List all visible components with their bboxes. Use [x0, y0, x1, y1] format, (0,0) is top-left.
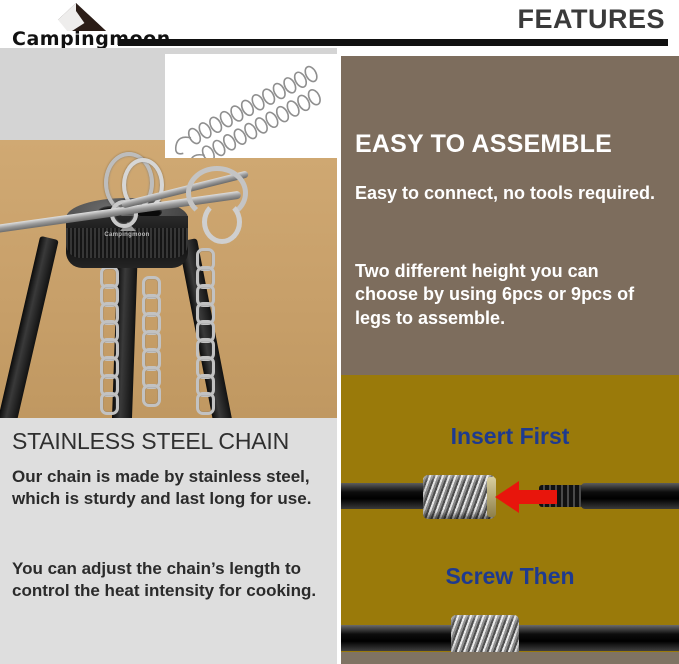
assemble-paragraph-1: Easy to connect, no tools required.	[355, 182, 665, 205]
insert-direction-arrow-icon	[495, 481, 555, 513]
pole-segment-right	[581, 483, 679, 509]
hanging-chain-right	[196, 248, 209, 410]
chain-inset-photo	[165, 54, 337, 158]
content-frame: Campingmoon	[0, 48, 679, 664]
left-column: Campingmoon	[0, 48, 337, 664]
feature-infographic: Campingmoon FEATURES	[0, 0, 679, 664]
easy-to-assemble-panel: EASY TO ASSEMBLE Easy to connect, no too…	[341, 56, 679, 375]
step-label-insert-first: Insert First	[341, 423, 679, 450]
header-divider	[118, 39, 668, 46]
assemble-panel-title: EASY TO ASSEMBLE	[355, 130, 612, 159]
step-label-screw-then: Screw Then	[341, 563, 679, 590]
hanging-chain-left	[100, 266, 113, 410]
stainless-chain-panel: STAINLESS STEEL CHAIN Our chain is made …	[0, 418, 337, 664]
header: Campingmoon FEATURES	[0, 0, 679, 52]
chain-inset-graphic	[165, 54, 337, 158]
assemble-paragraph-2: Two different height you can choose by u…	[355, 260, 665, 330]
chain-panel-paragraph-2: You can adjust the chain’s length to con…	[12, 558, 324, 602]
knurled-coupler-step1	[423, 475, 495, 519]
steps-panel-footer-band	[341, 652, 679, 664]
page-title: FEATURES	[517, 4, 665, 35]
right-column: EASY TO ASSEMBLE Easy to connect, no too…	[341, 48, 679, 664]
s-hook	[172, 166, 242, 236]
hero-product-photo: Campingmoon	[0, 48, 337, 418]
hero-ground-band	[0, 140, 337, 418]
assembly-steps-panel: Insert First Screw Then	[341, 375, 679, 664]
chain-panel-title: STAINLESS STEEL CHAIN	[12, 428, 289, 455]
arrow-head	[495, 481, 519, 513]
arrow-tail	[513, 490, 557, 504]
s-hook-lower-curve	[202, 200, 242, 244]
chain-panel-paragraph-1: Our chain is made by stainless steel, wh…	[12, 466, 324, 510]
hanging-chain-center	[142, 276, 155, 402]
